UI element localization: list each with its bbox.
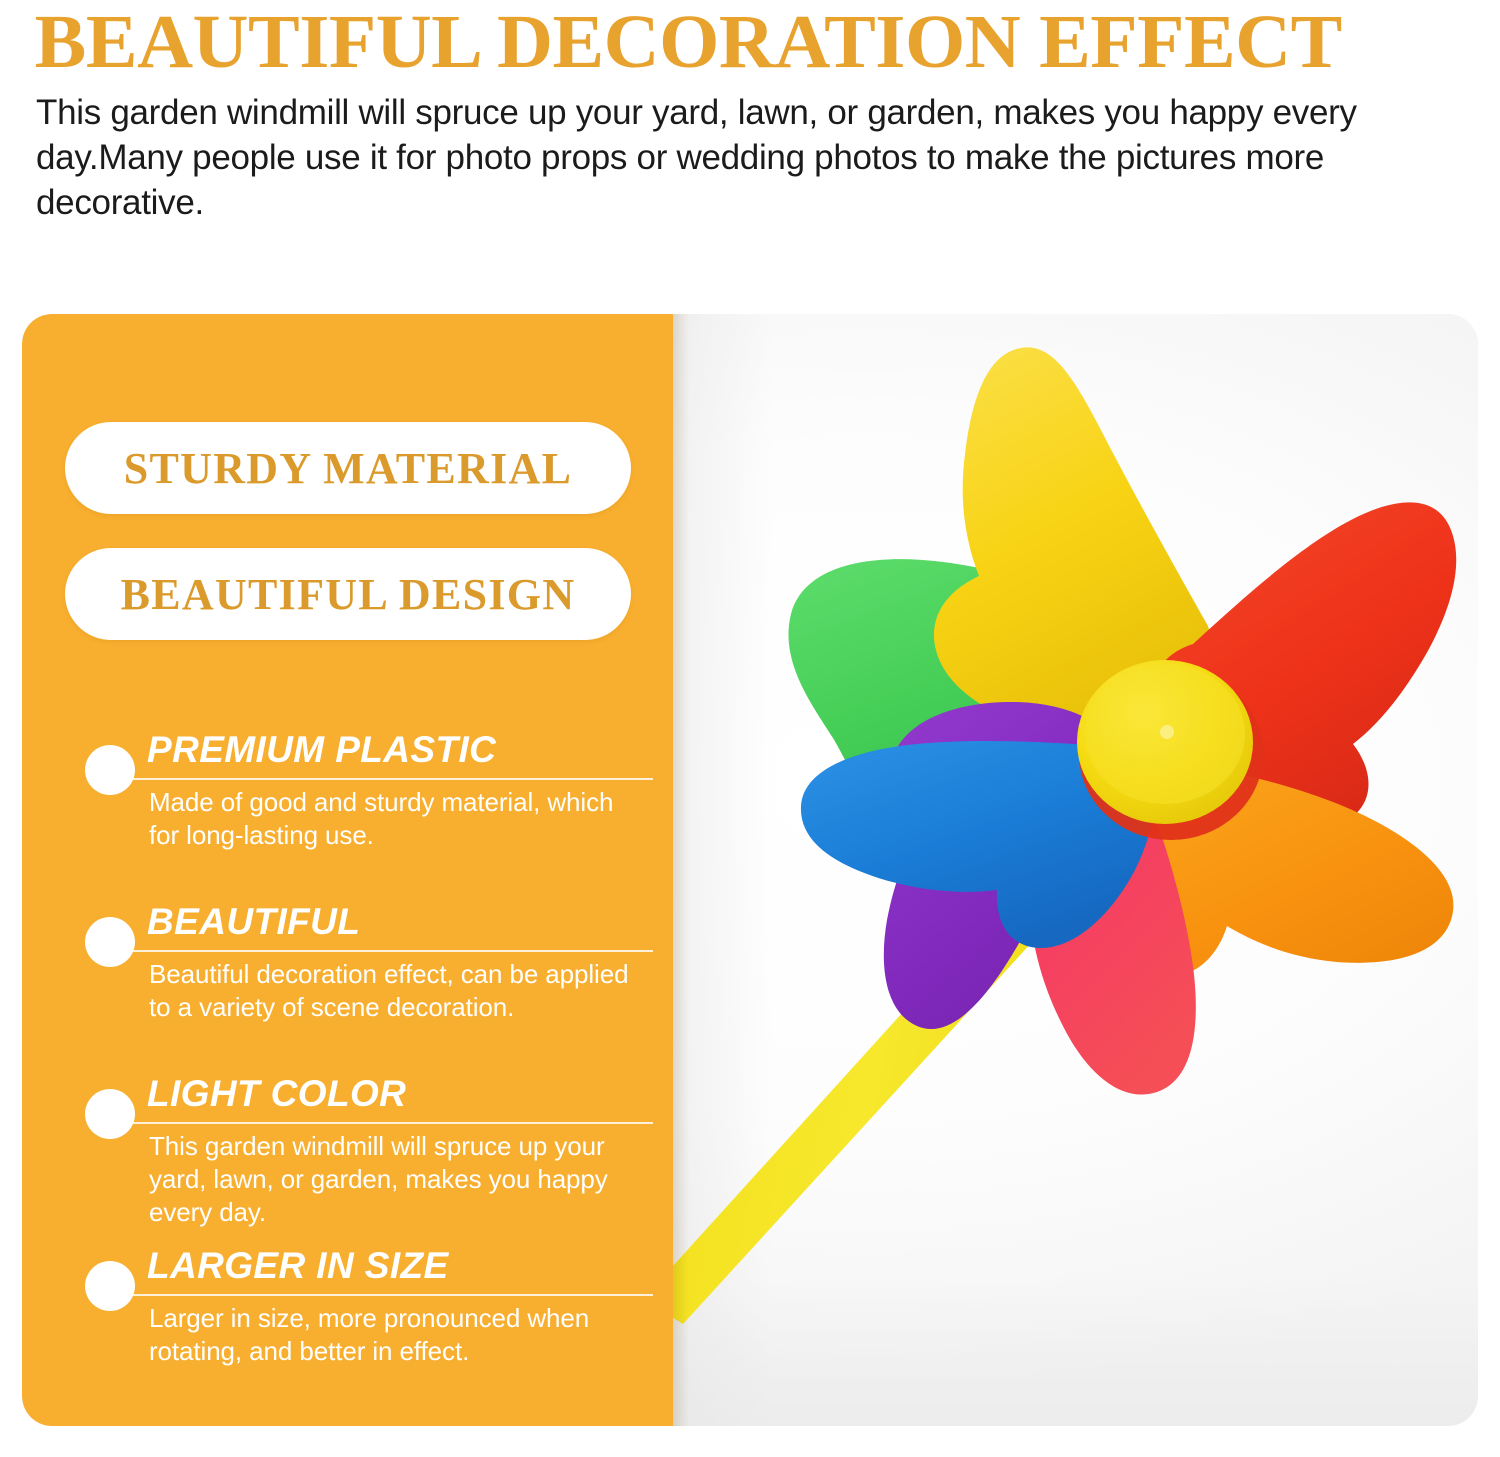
features-panel: STURDY MATERIAL BEAUTIFUL DESIGN PREMIUM…: [22, 314, 673, 1426]
pinwheel-svg: [673, 314, 1478, 1426]
feature-description: This garden windmill will spruce up your…: [149, 1130, 649, 1229]
feature-list: PREMIUM PLASTIC Made of good and sturdy …: [22, 728, 673, 1416]
feature-divider: [130, 778, 653, 780]
feature-title: LARGER IN SIZE: [147, 1244, 449, 1288]
feature-divider: [130, 1122, 653, 1124]
pill-label: STURDY MATERIAL: [124, 443, 573, 494]
feature-card: STURDY MATERIAL BEAUTIFUL DESIGN PREMIUM…: [22, 314, 1478, 1426]
feature-item-beautiful: BEAUTIFUL Beautiful decoration effect, c…: [22, 900, 673, 1072]
page-title: BEAUTIFUL DECORATION EFFECT: [0, 0, 1500, 84]
panel-edge-shadow: [673, 314, 689, 1426]
page-subtitle: This garden windmill will spruce up your…: [0, 90, 1500, 225]
header: BEAUTIFUL DECORATION EFFECT This garden …: [0, 0, 1500, 225]
headline-pills: STURDY MATERIAL BEAUTIFUL DESIGN: [65, 422, 631, 674]
feature-item-light-color: LIGHT COLOR This garden windmill will sp…: [22, 1072, 673, 1244]
pill-beautiful-design[interactable]: BEAUTIFUL DESIGN: [65, 548, 631, 640]
feature-title: BEAUTIFUL: [147, 900, 360, 944]
bullet-icon: [85, 1089, 135, 1139]
infographic-page: BEAUTIFUL DECORATION EFFECT This garden …: [0, 0, 1500, 1457]
feature-divider: [130, 950, 653, 952]
feature-divider: [130, 1294, 653, 1296]
bullet-icon: [85, 1261, 135, 1311]
pill-label: BEAUTIFUL DESIGN: [121, 569, 576, 620]
feature-description: Beautiful decoration effect, can be appl…: [149, 958, 649, 1024]
hub-dimple: [1160, 725, 1174, 739]
bullet-icon: [85, 917, 135, 967]
feature-item-larger-in-size: LARGER IN SIZE Larger in size, more pron…: [22, 1244, 673, 1416]
feature-description: Larger in size, more pronounced when rot…: [149, 1302, 649, 1368]
bullet-icon: [85, 745, 135, 795]
feature-description: Made of good and sturdy material, which …: [149, 786, 649, 852]
feature-title: LIGHT COLOR: [147, 1072, 406, 1116]
feature-title: PREMIUM PLASTIC: [147, 728, 496, 772]
feature-item-premium-plastic: PREMIUM PLASTIC Made of good and sturdy …: [22, 728, 673, 900]
pill-sturdy-material[interactable]: STURDY MATERIAL: [65, 422, 631, 514]
pinwheel-image: [673, 314, 1478, 1426]
